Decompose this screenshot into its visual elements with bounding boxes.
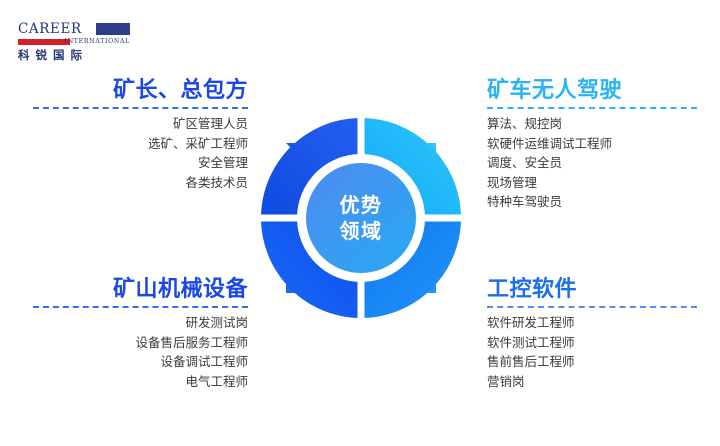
- donut-diagram: 优势 领域: [255, 112, 467, 324]
- inner-circle[interactable]: [306, 163, 416, 273]
- slide-canvas: CAREER INTERNATIONAL 科锐国际 矿长、总包方 矿区管理人员 …: [0, 0, 720, 446]
- logo-top-row: CAREER: [18, 22, 130, 37]
- list-item: 矿区管理人员: [33, 114, 248, 134]
- category-item-list: 算法、规控岗 软硬件运维调试工程师 调度、安全员 现场管理 特种车驾驶员: [487, 114, 697, 212]
- list-item: 现场管理: [487, 173, 697, 193]
- list-item: 调度、安全员: [487, 153, 697, 173]
- logo-brand-en: CAREER: [18, 22, 82, 36]
- category-block-top-left: 矿长、总包方 矿区管理人员 选矿、采矿工程师 安全管理 各类技术员: [33, 78, 248, 192]
- list-item: 售前售后工程师: [487, 352, 697, 372]
- category-block-top-right: 矿车无人驾驶 算法、规控岗 软硬件运维调试工程师 调度、安全员 现场管理 特种车…: [487, 78, 697, 212]
- list-item: 算法、规控岗: [487, 114, 697, 134]
- title-divider: [33, 107, 248, 109]
- list-item: 电气工程师: [33, 372, 248, 392]
- category-block-bottom-left: 矿山机械设备 研发测试岗 设备售后服务工程师 设备调试工程师 电气工程师: [33, 277, 248, 391]
- category-title: 矿长、总包方: [33, 78, 248, 104]
- list-item: 软件研发工程师: [487, 313, 697, 333]
- category-title: 工控软件: [487, 277, 697, 303]
- list-item: 软件测试工程师: [487, 333, 697, 353]
- category-item-list: 研发测试岗 设备售后服务工程师 设备调试工程师 电气工程师: [33, 313, 248, 391]
- logo-middle-row: INTERNATIONAL: [18, 38, 130, 47]
- category-item-list: 软件研发工程师 软件测试工程师 售前售后工程师 营销岗: [487, 313, 697, 391]
- company-logo: CAREER INTERNATIONAL 科锐国际: [18, 22, 130, 56]
- donut-svg: [255, 112, 467, 324]
- list-item: 研发测试岗: [33, 313, 248, 333]
- list-item: 设备调试工程师: [33, 352, 248, 372]
- title-divider: [487, 306, 697, 308]
- logo-mark-icon: [96, 23, 130, 35]
- list-item: 特种车驾驶员: [487, 192, 697, 212]
- list-item: 各类技术员: [33, 173, 248, 193]
- list-item: 设备售后服务工程师: [33, 333, 248, 353]
- category-title: 矿车无人驾驶: [487, 78, 697, 104]
- list-item: 软硬件运维调试工程师: [487, 134, 697, 154]
- list-item: 营销岗: [487, 372, 697, 392]
- title-divider: [33, 306, 248, 308]
- category-title: 矿山机械设备: [33, 277, 248, 303]
- list-item: 选矿、采矿工程师: [33, 134, 248, 154]
- category-item-list: 矿区管理人员 选矿、采矿工程师 安全管理 各类技术员: [33, 114, 248, 192]
- list-item: 安全管理: [33, 153, 248, 173]
- logo-brand-sub: INTERNATIONAL: [65, 38, 130, 46]
- title-divider: [487, 107, 697, 109]
- category-block-bottom-right: 工控软件 软件研发工程师 软件测试工程师 售前售后工程师 营销岗: [487, 277, 697, 391]
- logo-brand-cn: 科锐国际: [18, 49, 130, 62]
- logo-red-bar-icon: [18, 39, 70, 45]
